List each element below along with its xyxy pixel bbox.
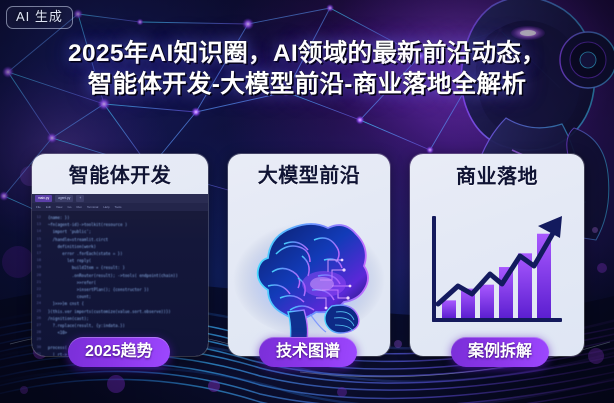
chart-bar [480, 285, 494, 318]
code-editor-menubar: File Edit View Go Run Terminal Help Tool… [32, 203, 208, 211]
chart-bars [442, 234, 551, 318]
code-editor-menu-item[interactable]: Terminal [87, 205, 98, 209]
pill-button-case-analysis[interactable]: 案例拆解 [451, 337, 549, 367]
code-editor-tabbar: main.py agent.py + [32, 194, 208, 203]
card-title-agent-development: 智能体开发 [32, 154, 208, 188]
code-editor-menu-item[interactable]: View [56, 205, 62, 209]
code-editor-line-numbers: 12 13 14 15 16 17 18 19 20 21 22 23 24 2… [32, 211, 43, 356]
feature-card-large-model-frontier[interactable]: 大模型前沿 [228, 154, 390, 356]
code-editor-window: main.py agent.py + File Edit View Go Run… [32, 194, 208, 356]
page-title-line-1: 2025年AI知识圈，AI领域的最新前沿动态， [68, 40, 546, 67]
card-media-growth-chart [410, 194, 584, 356]
feature-card-row: 智能体开发 main.py agent.py + File Edit View … [0, 154, 614, 356]
code-editor-body[interactable]: 12 13 14 15 16 17 18 19 20 21 22 23 24 2… [32, 211, 208, 356]
poster-canvas: AI 生成 2025年AI知识圈，AI领域的最新前沿动态， 智能体开发-大模型前… [0, 0, 614, 403]
card-title-commercial-landing: 商业落地 [410, 154, 584, 189]
code-editor-menu-item[interactable]: Tools [115, 205, 122, 209]
code-editor-tab[interactable]: main.py [35, 195, 52, 202]
code-editor-tab[interactable]: agent.py [55, 195, 73, 202]
glowing-brain-icon [228, 194, 390, 356]
pill-button-tech-map[interactable]: 技术图谱 [259, 337, 357, 367]
code-editor-menu-item[interactable]: Help [103, 205, 109, 209]
code-editor-menu-item[interactable]: Run [76, 205, 82, 209]
code-editor-tab-add[interactable]: + [76, 195, 84, 202]
pill-button-2025-trends[interactable]: 2025趋势 [68, 337, 170, 367]
card-media-brain [228, 194, 390, 356]
code-editor-source: {name: }) ~fn(agent-id)->toolkit(resourc… [43, 211, 208, 356]
card-title-large-model-frontier: 大模型前沿 [228, 154, 390, 188]
card-media-code-editor: main.py agent.py + File Edit View Go Run… [32, 194, 208, 356]
chart-bar [442, 300, 456, 318]
page-title-line-2: 智能体开发-大模型前沿-商业落地全解析 [14, 69, 600, 100]
code-editor-menu-item[interactable]: Edit [46, 205, 51, 209]
feature-card-commercial-landing[interactable]: 商业落地 [410, 154, 584, 356]
code-editor-menu-item[interactable]: Go [67, 205, 71, 209]
brain-illustration-wrapper [228, 194, 390, 356]
feature-card-agent-development[interactable]: 智能体开发 main.py agent.py + File Edit View … [32, 154, 208, 356]
page-title: 2025年AI知识圈，AI领域的最新前沿动态， 智能体开发-大模型前沿-商业落地… [0, 38, 614, 100]
growth-chart-wrapper [410, 198, 584, 356]
code-editor-menu-item[interactable]: File [36, 205, 41, 209]
ai-generated-badge: AI 生成 [6, 6, 73, 29]
growth-bar-chart-icon [410, 198, 584, 356]
